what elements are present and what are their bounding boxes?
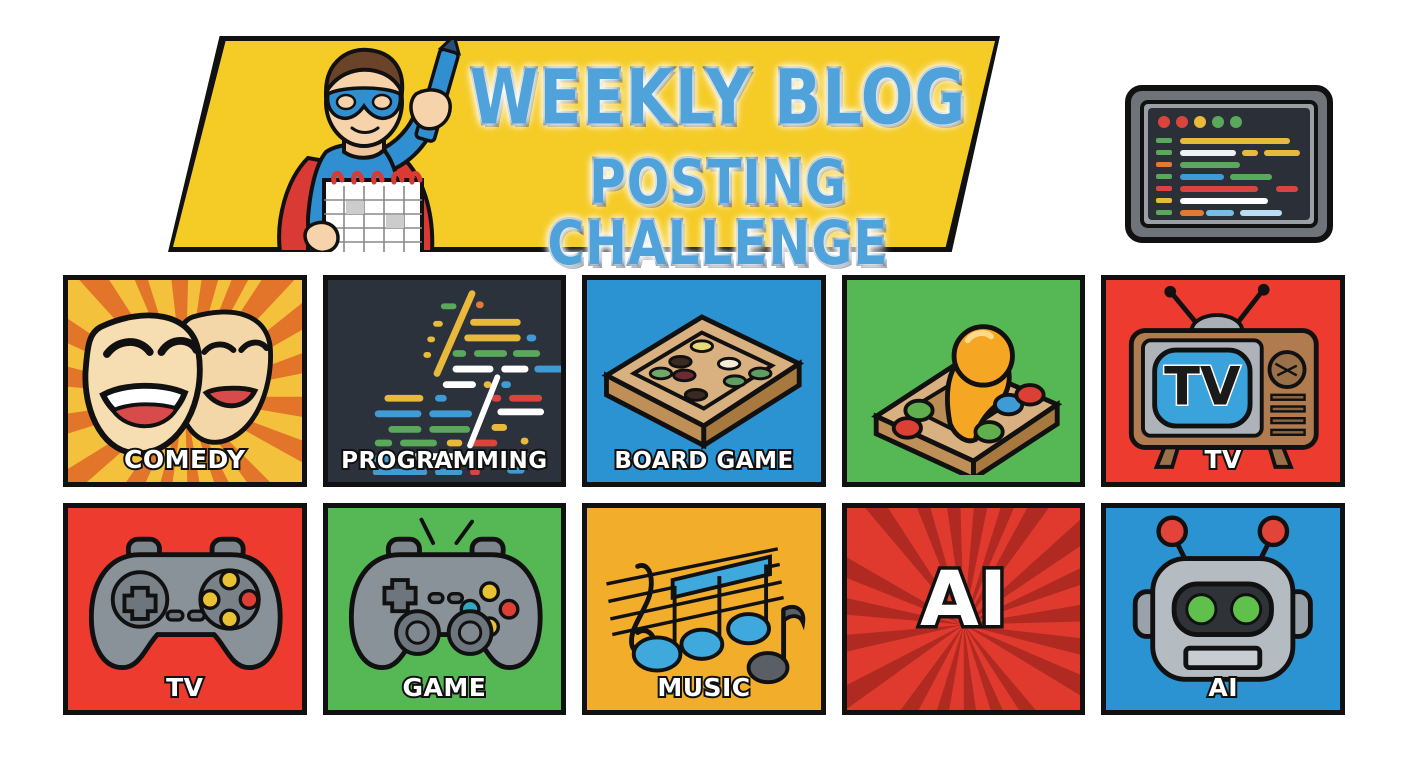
card-joystick[interactable] [842, 275, 1086, 487]
card-label: MUSIC [587, 673, 821, 702]
card-comedy[interactable]: COMEDY [63, 275, 307, 487]
card-label: BOARD GAME [587, 448, 821, 474]
code-monitor-icon[interactable] [1124, 84, 1334, 244]
svg-text:TV: TV [1164, 357, 1241, 418]
card-ai-robot[interactable]: AI [1101, 503, 1345, 715]
card-game[interactable]: GAME [323, 503, 567, 715]
card-board-game[interactable]: BOARD GAME [582, 275, 826, 487]
card-ai-sunburst[interactable]: AI [842, 503, 1086, 715]
card-tv-retro[interactable]: TV TV [1101, 275, 1345, 487]
board-game-icon [587, 280, 821, 475]
card-label: AI [1106, 673, 1340, 702]
card-music[interactable]: MUSIC [582, 503, 826, 715]
arcade-joystick-icon [847, 280, 1081, 475]
poster-root: WEEKLY BLOG POSTING CHALLENGE [0, 0, 1408, 768]
ai-big-text: AI [847, 554, 1081, 643]
card-label: TV [68, 673, 302, 702]
code-lines-icon [328, 280, 562, 475]
card-tv-gamepad[interactable]: TV [63, 503, 307, 715]
card-programming[interactable]: PROGRAMMING [323, 275, 567, 487]
banner-title-line-1: WEEKLY BLOG [468, 60, 968, 136]
banner-title-line-2: POSTING CHALLENGE [468, 152, 968, 274]
header-banner: WEEKLY BLOG POSTING CHALLENGE [168, 36, 1000, 252]
card-label: PROGRAMMING [328, 448, 562, 474]
card-label: COMEDY [68, 445, 302, 474]
card-label: TV [1106, 445, 1340, 474]
superhero-icon [246, 40, 486, 252]
banner-title: WEEKLY BLOG POSTING CHALLENGE [468, 60, 968, 252]
card-label: GAME [328, 673, 562, 702]
category-card-grid: COMEDY [63, 275, 1345, 715]
